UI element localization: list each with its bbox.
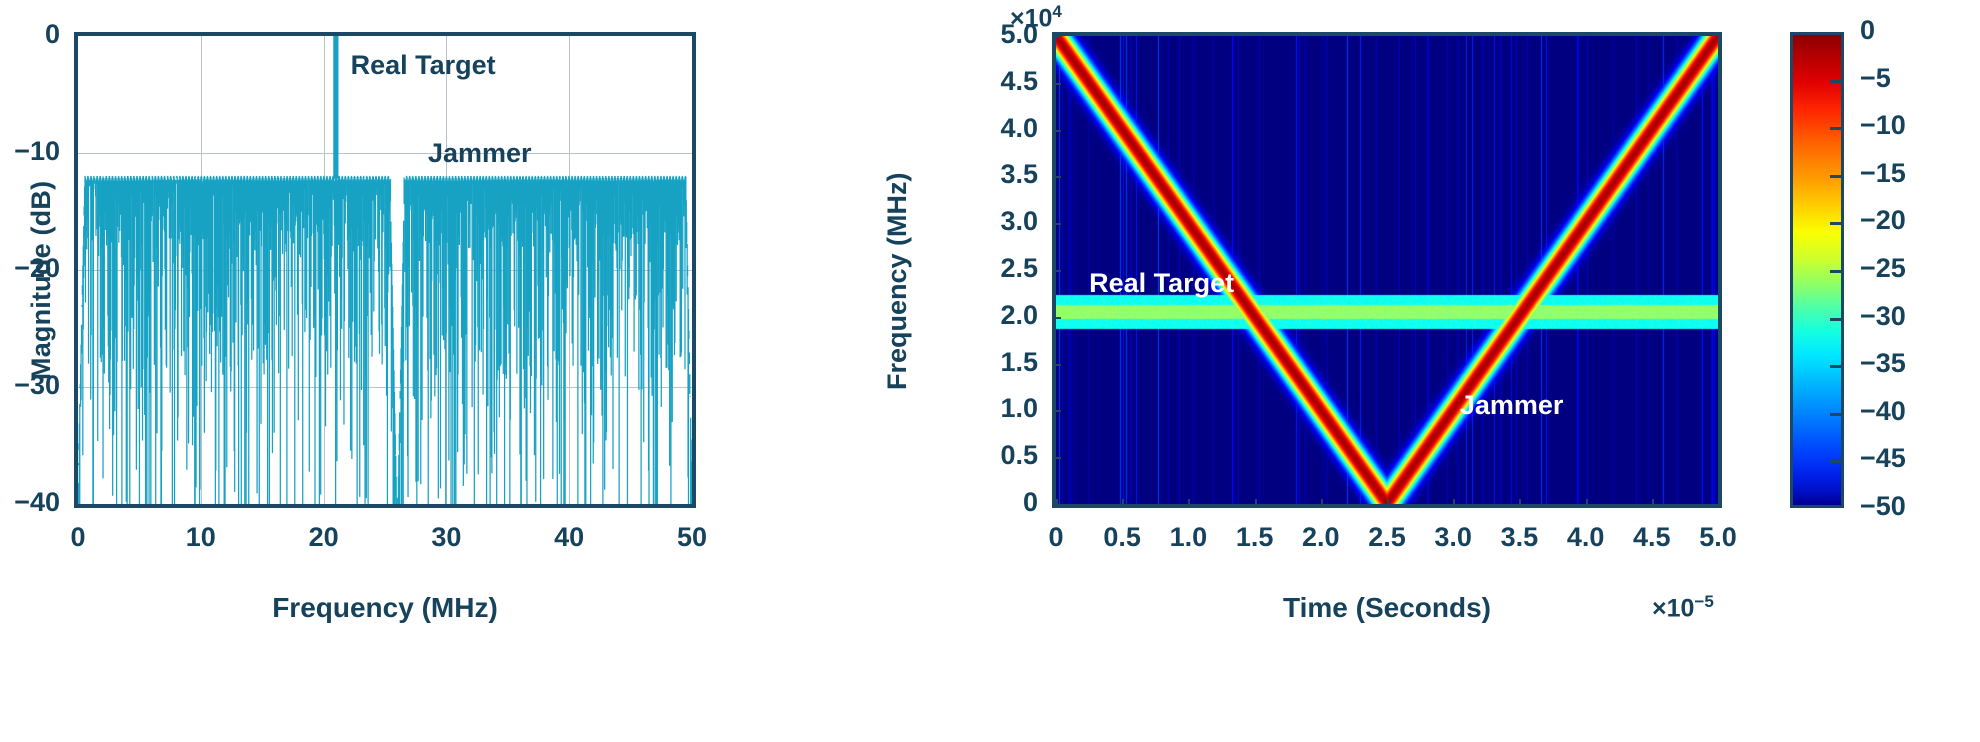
y-tick-mark — [1052, 457, 1061, 459]
colorbar-tick-mark — [1830, 413, 1844, 416]
left-spectrum-svg — [78, 36, 692, 504]
colorbar-tick-mark — [1830, 270, 1844, 273]
colorbar-tick-mark — [1830, 175, 1844, 178]
right-x-tick-label: 4.5 — [1617, 522, 1687, 553]
right-y-axis-title: Frequency (MHz) — [882, 172, 913, 390]
right-x-tick-label: 0.5 — [1087, 522, 1157, 553]
y-tick-mark — [1052, 364, 1061, 366]
colorbar-tick-label: −35 — [1860, 348, 1906, 379]
colorbar: 0−5−10−15−20−25−30−35−40−45−50 — [1790, 32, 1844, 508]
x-tick-mark — [1453, 499, 1455, 508]
left-spectrum-trace — [78, 36, 692, 504]
right-y-tick-label: 3.0 — [932, 206, 1038, 237]
colorbar-tick-mark — [1830, 222, 1844, 225]
left-y-tick-label: −10 — [0, 136, 60, 167]
x-tick-mark — [1255, 499, 1257, 508]
left-x-tick-label: 50 — [662, 522, 722, 553]
annotation-real-target-right: Real Target — [1089, 268, 1234, 299]
left-y-tick-label: 0 — [0, 19, 60, 50]
y-tick-mark — [1052, 317, 1061, 319]
y-tick-mark — [1052, 36, 1061, 38]
right-x-tick-label: 4.0 — [1551, 522, 1621, 553]
colorbar-tick-label: −45 — [1860, 443, 1906, 474]
x-tick-mark — [1188, 499, 1190, 508]
left-x-tick-label: 0 — [48, 522, 108, 553]
right-y-tick-label: 1.5 — [932, 347, 1038, 378]
colorbar-tick-mark — [1830, 127, 1844, 130]
right-y-tick-label: 4.0 — [932, 113, 1038, 144]
colorbar-tick-label: −25 — [1860, 253, 1906, 284]
left-y-axis-title: Magnitude (dB) — [26, 181, 57, 380]
x-tick-mark — [1519, 499, 1521, 508]
real-target-spike — [333, 36, 338, 179]
y-tick-mark — [1052, 130, 1061, 132]
right-y-tick-label: 3.5 — [932, 159, 1038, 190]
right-y-tick-label: 0.5 — [932, 440, 1038, 471]
right-y-tick-label: 2.0 — [932, 300, 1038, 331]
y-tick-mark — [1052, 176, 1061, 178]
colorbar-tick-label: −20 — [1860, 205, 1906, 236]
right-y-tick-label: 0 — [932, 487, 1038, 518]
right-y-tick-label: 4.5 — [932, 66, 1038, 97]
colorbar-tick-label: 0 — [1860, 15, 1875, 46]
annotation-real-target-left: Real Target — [351, 50, 496, 81]
left-x-tick-label: 10 — [171, 522, 231, 553]
x-tick-mark — [1718, 499, 1720, 508]
left-x-tick-label: 40 — [539, 522, 599, 553]
right-x-tick-label: 3.0 — [1418, 522, 1488, 553]
x-tick-mark — [1586, 499, 1588, 508]
right-x-tick-label: 1.5 — [1220, 522, 1290, 553]
annotation-jammer-left: Jammer — [428, 138, 532, 169]
y-tick-mark — [1052, 223, 1061, 225]
colorbar-tick-mark — [1830, 365, 1844, 368]
y-tick-mark — [1052, 410, 1061, 412]
colorbar-tick-mark — [1830, 318, 1844, 321]
y-tick-mark — [1052, 504, 1061, 506]
colorbar-tick-label: −50 — [1860, 491, 1906, 522]
colorbar-tick-mark — [1830, 80, 1844, 83]
colorbar-tick-mark — [1830, 460, 1844, 463]
colorbar-tick-label: −10 — [1860, 110, 1906, 141]
y-tick-mark — [1052, 270, 1061, 272]
right-y-exponent-label: ×104 — [1010, 2, 1062, 33]
jammer-noise-path — [78, 176, 692, 504]
right-x-axis-title: Time (Seconds) — [1052, 592, 1722, 624]
colorbar-tick-label: −5 — [1860, 63, 1891, 94]
left-x-tick-label: 20 — [294, 522, 354, 553]
right-x-tick-label: 3.5 — [1484, 522, 1554, 553]
left-y-tick-label: −40 — [0, 487, 60, 518]
x-tick-mark — [1321, 499, 1323, 508]
right-x-tick-label: 2.0 — [1286, 522, 1356, 553]
x-tick-mark — [1652, 499, 1654, 508]
left-plot-frame — [74, 32, 696, 508]
right-x-tick-label: 1.0 — [1153, 522, 1223, 553]
right-x-tick-label: 2.5 — [1352, 522, 1422, 553]
y-tick-mark — [1052, 83, 1061, 85]
right-x-tick-label: 5.0 — [1683, 522, 1753, 553]
colorbar-tick-label: −15 — [1860, 158, 1906, 189]
colorbar-tick-label: −30 — [1860, 301, 1906, 332]
left-x-axis-title: Frequency (MHz) — [0, 592, 770, 624]
figure-root: 0−10−20−30−40 01020304050 Magnitude (dB)… — [0, 0, 1980, 742]
x-tick-mark — [1387, 499, 1389, 508]
right-x-tick-label: 0 — [1021, 522, 1091, 553]
left-x-tick-label: 30 — [416, 522, 476, 553]
annotation-jammer-right: Jammer — [1460, 390, 1564, 421]
right-y-tick-label: 1.0 — [932, 393, 1038, 424]
x-tick-mark — [1122, 499, 1124, 508]
colorbar-tick-label: −40 — [1860, 396, 1906, 427]
left-plot-area — [74, 32, 696, 508]
right-y-tick-label: 2.5 — [932, 253, 1038, 284]
